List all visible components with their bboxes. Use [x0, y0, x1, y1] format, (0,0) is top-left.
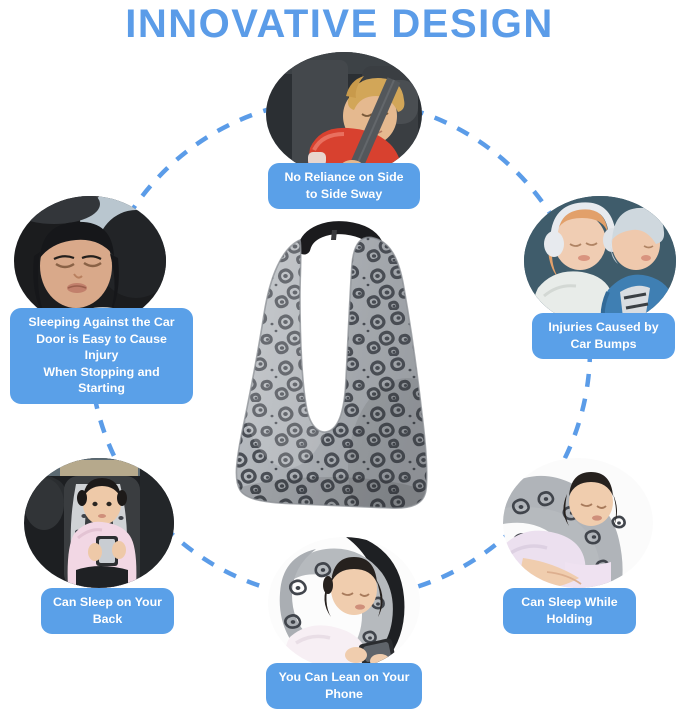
feature-label-line-1: Can Sleep While: [512, 594, 627, 611]
feature-label-sleep-while-holding: Can Sleep While Holding: [503, 588, 636, 634]
feature-label-line-1: Injuries Caused by: [541, 319, 666, 336]
feature-label-line-1: Sleeping Against the Car: [19, 314, 184, 331]
feature-label-line-2: Holding: [512, 611, 627, 628]
feature-photo-no-reliance-sway: [266, 52, 422, 176]
product-image-travel-pillow: [228, 218, 438, 518]
feature-label-line-1: You Can Lean on Your: [275, 669, 413, 686]
feature-label-sleep-on-your-back: Can Sleep on Your Back: [41, 588, 174, 634]
feature-label-line-2: Phone: [275, 686, 413, 703]
product-infographic: INNOVATIVE DESIGN: [0, 0, 679, 705]
feature-label-line-1: Can Sleep on Your: [50, 594, 165, 611]
feature-photo-lean-on-your-phone: [268, 537, 420, 669]
feature-label-line-3: When Stopping and Starting: [19, 364, 184, 397]
feature-photo-sleep-while-holding: [503, 458, 653, 588]
feature-photo-sleep-on-your-back: [24, 458, 174, 588]
feature-label-line-2: Back: [50, 611, 165, 628]
feature-label-no-reliance-sway: No Reliance on Side to Side Sway: [268, 163, 420, 209]
feature-label-lean-on-your-phone: You Can Lean on Your Phone: [266, 663, 422, 709]
feature-label-line-2: to Side Sway: [277, 186, 411, 203]
feature-label-line-2: Car Bumps: [541, 336, 666, 353]
feature-photo-sleeping-against-car-door: [14, 196, 166, 326]
feature-label-sleeping-against-car-door: Sleeping Against the Car Door is Easy to…: [10, 308, 193, 404]
feature-label-line-2: Door is Easy to Cause Injury: [19, 331, 184, 364]
feature-label-injuries-car-bumps: Injuries Caused by Car Bumps: [532, 313, 675, 359]
page-title: INNOVATIVE DESIGN: [0, 2, 679, 46]
feature-photo-injuries-car-bumps: [524, 196, 676, 326]
feature-label-line-1: No Reliance on Side: [277, 169, 411, 186]
